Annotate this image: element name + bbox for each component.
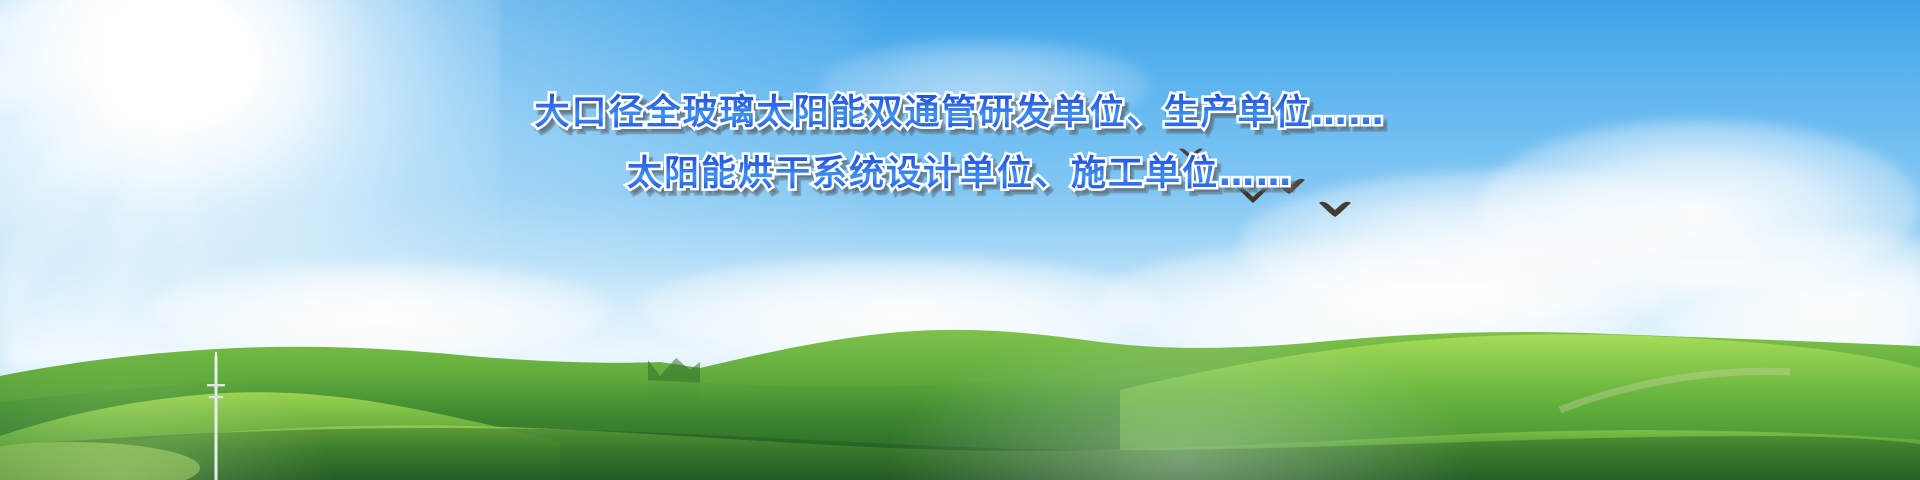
cloud [820,40,1150,130]
utility-pole-icon [205,352,227,480]
bird-icon [1238,186,1268,208]
bird-icon [1178,146,1204,164]
hero-banner: 大口径全玻璃太阳能双通管研发单位、生产单位…… 大口径全玻璃太阳能双通管研发单位… [0,0,1920,480]
green-hills [0,250,1920,480]
bird-icon [1272,175,1306,199]
bird-icon [1318,198,1352,222]
